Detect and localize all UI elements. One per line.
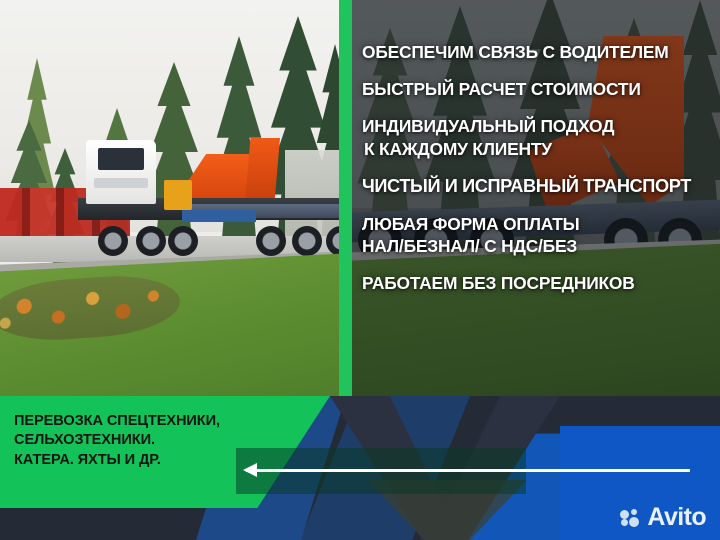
banner-line: ПЕРЕВОЗКА СПЕЦТЕХНИКИ,	[14, 412, 334, 431]
arrow-left-icon	[246, 469, 690, 472]
benefit-item: ЧИСТЫЙ И ИСПРАВНЫЙ ТРАНСПОРТ	[362, 176, 720, 197]
wheel	[292, 226, 322, 256]
avito-watermark: Avito	[620, 505, 706, 530]
truck-photo-left	[0, 0, 345, 400]
benefit-item: ОБЕСПЕЧИМ СВЯЗЬ С ВОДИТЕЛЕМ	[362, 42, 720, 62]
green-divider-stripe	[339, 0, 352, 404]
avito-dots-icon	[620, 507, 642, 529]
benefit-item: НАЛ/БЕЗНАЛ/ С НДС/БЕЗ	[362, 236, 720, 256]
truck-and-trailer	[78, 140, 345, 270]
wheel	[168, 226, 198, 256]
avito-wordmark: Avito	[647, 505, 706, 530]
wheel	[256, 226, 286, 256]
benefit-item: ИНДИВИДУАЛЬНЫЙ ПОДХОД	[362, 116, 720, 136]
benefit-item: РАБОТАЕМ БЕЗ ПОСРЕДНИКОВ	[362, 273, 720, 293]
wheel	[98, 226, 128, 256]
benefits-list: ОБЕСПЕЧИМ СВЯЗЬ С ВОДИТЕЛЕМ БЫСТРЫЙ РАСЧ…	[362, 42, 720, 310]
cab-window	[98, 148, 144, 170]
hitch	[164, 180, 192, 210]
truck-cab	[86, 140, 156, 204]
wheel	[136, 226, 166, 256]
benefit-item: БЫСТРЫЙ РАСЧЕТ СТОИМОСТИ	[362, 79, 720, 99]
cab-grill	[94, 178, 148, 188]
ad-banner-canvas: ОБЕСПЕЧИМ СВЯЗЬ С ВОДИТЕЛЕМ БЫСТРЫЙ РАСЧ…	[0, 0, 720, 540]
arrow-left-head-icon	[243, 463, 257, 478]
benefit-item: К КАЖДОМУ КЛИЕНТУ	[364, 139, 720, 159]
trailer-deck-blue	[182, 210, 256, 222]
benefit-item: ЛЮБАЯ ФОРМА ОПЛАТЫ	[362, 214, 720, 234]
